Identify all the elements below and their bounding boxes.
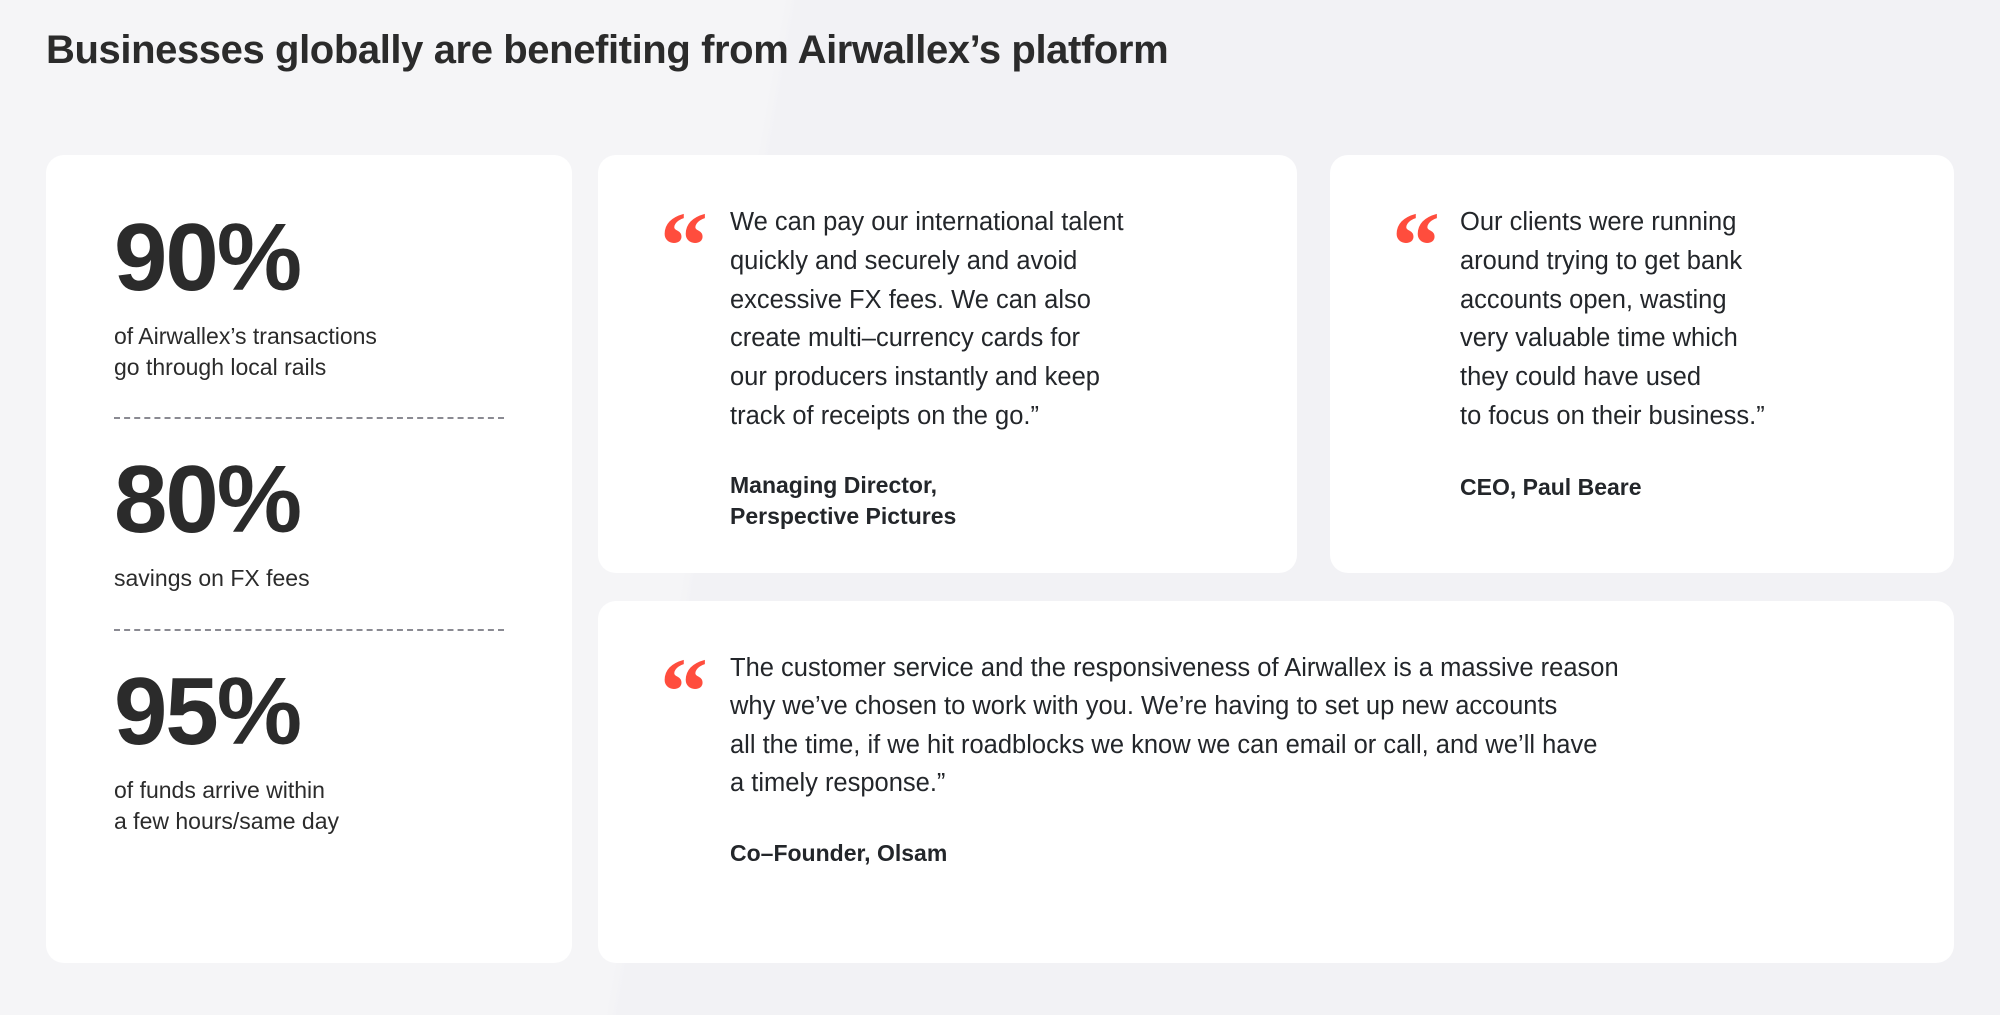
quote-mark-icon: “ [1392,211,1440,280]
quote-mark-icon: “ [660,211,708,280]
quote-content: “ The customer service and the responsiv… [598,601,1954,869]
stat-label: of Airwallex’s transactions go through l… [114,321,504,384]
quote-attribution-line: Perspective Pictures [730,501,1257,532]
quote-text: We can pay our international talent quic… [730,203,1257,436]
quote-line: very valuable time which [1460,319,1914,358]
quote-attribution-line: Co–Founder, Olsam [730,838,1914,869]
marketing-stats-testimonials-page: Businesses globally are benefiting from … [0,0,2000,1015]
quote-line: excessive FX fees. We can also [730,281,1257,320]
quote-body: We can pay our international talent quic… [730,203,1257,532]
quote-line: they could have used [1460,358,1914,397]
stat-label-line: savings on FX fees [114,563,504,594]
stat-value: 90% [114,209,504,307]
quote-text: Our clients were running around trying t… [1460,203,1914,436]
quote-line: create multi–currency cards for [730,319,1257,358]
quote-body: The customer service and the responsiven… [730,649,1914,869]
quote-line: around trying to get bank [1460,242,1914,281]
quote-attribution: CEO, Paul Beare [1460,472,1914,503]
stat-label: savings on FX fees [114,563,504,594]
stat-label-line: of Airwallex’s transactions [114,321,504,352]
stat-block-1: 90% of Airwallex’s transactions go throu… [46,209,572,383]
stat-block-3: 95% of funds arrive within a few hours/s… [46,663,572,837]
quote-attribution: Managing Director, Perspective Pictures [730,470,1257,533]
quote-attribution: Co–Founder, Olsam [730,838,1914,869]
page-title: Businesses globally are benefiting from … [46,28,1168,73]
testimonial-card-paul-beare: “ Our clients were running around trying… [1330,155,1954,573]
quote-line: quickly and securely and avoid [730,242,1257,281]
quote-line: accounts open, wasting [1460,281,1914,320]
stat-label-line: a few hours/same day [114,806,504,837]
quote-content: “ Our clients were running around trying… [1330,155,1954,503]
quote-body: Our clients were running around trying t… [1460,203,1914,503]
quote-attribution-line: CEO, Paul Beare [1460,472,1914,503]
stat-value: 95% [114,663,504,761]
quote-line: We can pay our international talent [730,203,1257,242]
quote-line: why we’ve chosen to work with you. We’re… [730,687,1914,725]
quote-line: Our clients were running [1460,203,1914,242]
stat-divider [114,417,504,419]
quote-line: all the time, if we hit roadblocks we kn… [730,726,1914,764]
testimonial-card-perspective-pictures: “ We can pay our international talent qu… [598,155,1297,573]
stat-value: 80% [114,451,504,549]
stat-label-line: of funds arrive within [114,775,504,806]
testimonial-card-olsam: “ The customer service and the responsiv… [598,601,1954,963]
quote-text: The customer service and the responsiven… [730,649,1914,802]
quote-line: track of receipts on the go.” [730,397,1257,436]
quote-line: a timely response.” [730,764,1914,802]
stat-label: of funds arrive within a few hours/same … [114,775,504,838]
quote-line: our producers instantly and keep [730,358,1257,397]
quote-line: to focus on their business.” [1460,397,1914,436]
quote-line: The customer service and the responsiven… [730,649,1914,687]
stat-label-line: go through local rails [114,352,504,383]
quote-attribution-line: Managing Director, [730,470,1257,501]
quote-mark-icon: “ [660,657,708,726]
stat-block-2: 80% savings on FX fees [46,451,572,594]
stats-card: 90% of Airwallex’s transactions go throu… [46,155,572,963]
quote-content: “ We can pay our international talent qu… [598,155,1297,532]
stat-divider [114,629,504,631]
